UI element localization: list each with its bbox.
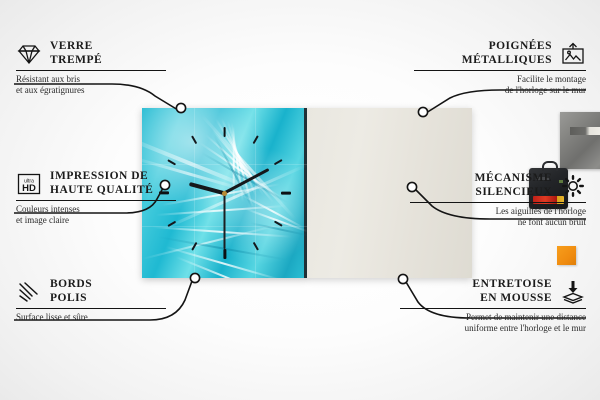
callout-print-title-2: HAUTE QUALITÉ [50,184,153,198]
foam-spacer-part [557,246,576,265]
callout-print-title-1: IMPRESSION DE [50,170,153,184]
callout-edges-title-2: POLIS [50,292,92,306]
gear-icon [560,173,586,199]
ultra-hd-icon: ultra HD [16,171,42,197]
callout-edges: BORDS POLIS Surface lisse et sûre [16,278,166,323]
callout-rule [400,308,586,309]
callout-glass: VERRE TREMPÉ Résistant aux bris et aux é… [16,40,166,96]
callout-mechanism-title-2: SILENCIEUX [475,186,552,200]
callout-handles-sub-1: Facilite le montage [414,74,586,85]
handle-slot [570,127,600,135]
arrow-down-layers-icon [560,279,586,305]
callout-handles-title-2: MÉTALLIQUES [462,54,552,68]
callout-mechanism: MÉCANISME SILENCIEUX Les aiguilles de l'… [410,172,586,228]
svg-text:HD: HD [22,183,36,194]
callout-glass-title-2: TREMPÉ [50,54,102,68]
callout-mechanism-sub-1: Les aiguilles de l'horloge [410,206,586,217]
callout-handles: POIGNÉES MÉTALLIQUES Facilite le montage… [414,40,586,96]
callout-rule [410,202,586,203]
callout-rule [16,70,166,71]
callout-spacer: ENTRETOISE EN MOUSSE Permet de maintenir… [400,278,586,334]
callout-spacer-title-1: ENTRETOISE [472,278,552,292]
callout-handles-title-1: POIGNÉES [462,40,552,54]
callout-rule [414,70,586,71]
metallic-handle-part [560,112,600,169]
clock-hour-hand [189,182,225,196]
diamond-icon [16,41,42,67]
callout-spacer-sub-2: uniforme entre l'horloge et le mur [400,323,586,334]
infographic-canvas: VERRE TREMPÉ Résistant aux bris et aux é… [0,0,600,400]
callout-glass-title-1: VERRE [50,40,102,54]
polished-edges-icon [16,279,42,305]
callout-print: ultra HD IMPRESSION DE HAUTE QUALITÉ Cou… [16,170,176,226]
callout-glass-sub-2: et aux égratignures [16,85,166,96]
callout-glass-sub-1: Résistant aux bris [16,74,166,85]
callout-mechanism-title-1: MÉCANISME [475,172,552,186]
callout-print-sub-1: Couleurs intenses [16,204,176,215]
callout-spacer-title-2: EN MOUSSE [472,292,552,306]
callout-handles-sub-2: de l'horloge sur le mur [414,85,586,96]
callout-mechanism-sub-2: ne font aucun bruit [410,217,586,228]
clock-minute-hand [224,168,270,194]
clock-center-pin [222,191,227,196]
callout-rule [16,200,176,201]
callout-edges-title-1: BORDS [50,278,92,292]
callout-spacer-sub-1: Permet de maintenir une distance [400,312,586,323]
mechanism-shaft [542,161,558,171]
callout-rule [16,308,166,309]
callout-print-sub-2: et image claire [16,215,176,226]
callout-edges-sub-1: Surface lisse et sûre [16,312,166,323]
picture-frame-icon [560,41,586,67]
clock-second-hand [224,193,226,249]
